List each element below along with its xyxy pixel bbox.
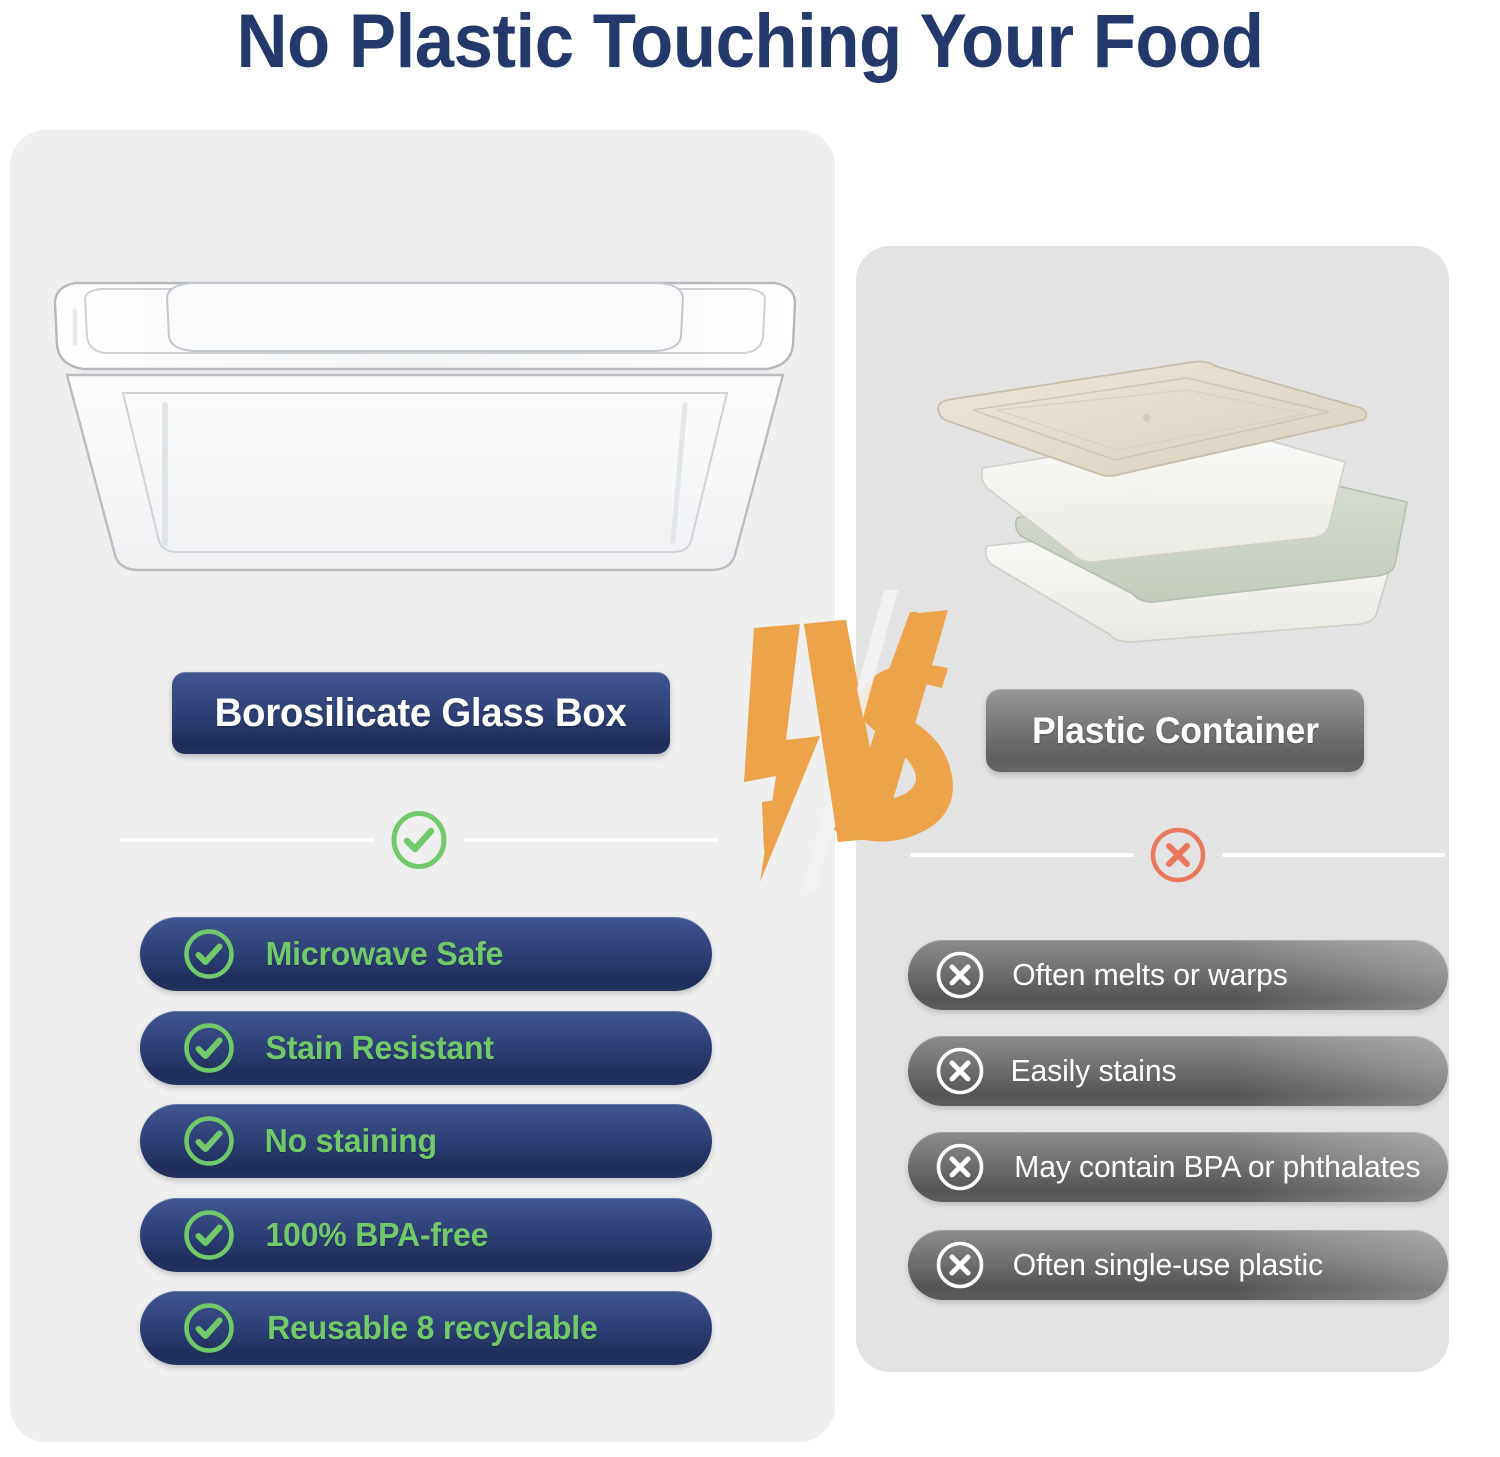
circle-check-icon — [182, 1208, 236, 1262]
borosilicate-glass-container-photo — [45, 225, 805, 595]
circle-check-icon — [388, 809, 450, 871]
circle-check-icon — [182, 1114, 236, 1168]
feature-pill-good[interactable]: No staining — [140, 1104, 712, 1178]
divider-rule-left — [120, 838, 374, 842]
feature-label: Reusable 8 recyclable — [267, 1309, 597, 1347]
feature-pill-good[interactable]: 100% BPA-free — [140, 1198, 712, 1272]
glass-heading-button[interactable]: Borosilicate Glass Box — [172, 672, 670, 754]
feature-label: Microwave Safe — [266, 935, 503, 973]
feature-label: 100% BPA-free — [265, 1216, 488, 1254]
versus-badge — [742, 590, 972, 890]
feature-label: Stain Resistant — [266, 1029, 494, 1067]
circle-cross-icon — [934, 1141, 986, 1193]
plastic-container-photo — [925, 350, 1440, 650]
divider-rule-right — [464, 838, 718, 842]
page-title: No Plastic Touching Your Food — [53, 2, 1448, 82]
circle-check-icon — [182, 927, 236, 981]
circle-cross-icon — [1148, 825, 1208, 885]
circle-cross-icon — [934, 1239, 986, 1291]
feature-pill-good[interactable]: Reusable 8 recyclable — [140, 1291, 712, 1365]
feature-pill-good[interactable]: Microwave Safe — [140, 917, 712, 991]
drawback-pill[interactable]: Often single-use plastic — [908, 1230, 1448, 1300]
feature-pill-good[interactable]: Stain Resistant — [140, 1011, 712, 1085]
plastic-heading-label: Plastic Container — [1032, 710, 1319, 752]
plastic-heading-button[interactable]: Plastic Container — [986, 689, 1364, 772]
drawback-pill[interactable]: Often melts or warps — [908, 940, 1448, 1010]
plastic-divider — [910, 818, 1445, 892]
circle-cross-icon — [934, 1045, 986, 1097]
drawback-pill[interactable]: Easily stains — [908, 1036, 1448, 1106]
glass-heading-label: Borosilicate Glass Box — [215, 691, 627, 736]
circle-check-icon — [182, 1301, 236, 1355]
feature-label: No staining — [265, 1122, 437, 1160]
drawback-label: Easily stains — [1011, 1053, 1177, 1089]
circle-check-icon — [182, 1021, 236, 1075]
divider-rule-right — [1222, 853, 1446, 857]
glass-divider — [120, 800, 718, 880]
drawback-pill[interactable]: May contain BPA or phthalates — [908, 1132, 1448, 1202]
drawback-label: Often single-use plastic — [1013, 1247, 1323, 1283]
drawback-label: May contain BPA or phthalates — [1014, 1149, 1420, 1185]
circle-cross-icon — [934, 949, 986, 1001]
drawback-label: Often melts or warps — [1012, 957, 1287, 993]
